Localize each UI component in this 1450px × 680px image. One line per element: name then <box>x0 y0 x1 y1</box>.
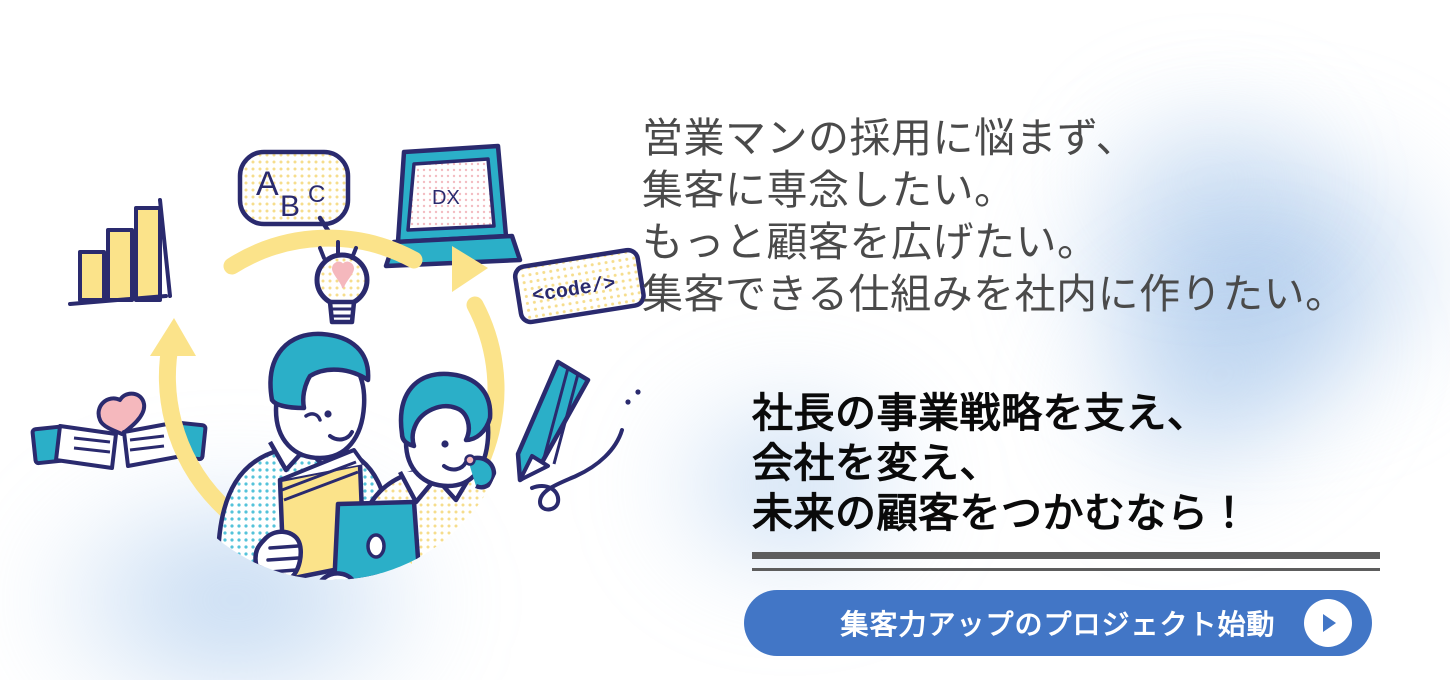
speech-bubble-letter-a: A <box>256 165 279 203</box>
people-group <box>218 334 524 615</box>
bar-chart-icon <box>70 200 170 304</box>
play-triangle-icon <box>1304 599 1352 647</box>
divider-rule-thick <box>752 552 1380 559</box>
speech-bubble-letter-c: C <box>308 181 325 208</box>
headline-line-2: 会社を変え、 <box>752 438 1250 488</box>
lead-paragraph: 営業マンの採用に悩まず、 集客に専念したい。 もっと顧客を広げたい。 集客できる… <box>642 112 1347 320</box>
code-tag-icon: <code/> <box>514 249 645 324</box>
lead-line-3: もっと顧客を広げたい。 <box>642 216 1347 268</box>
hero-illustration: A B C DX <code/> <box>20 90 660 650</box>
headline: 社長の事業戦略を支え、 会社を変え、 未来の顧客をつかむなら！ <box>752 388 1250 538</box>
lead-line-4: 集客できる仕組みを社内に作りたい。 <box>642 268 1347 320</box>
divider-rule-thin <box>752 568 1380 571</box>
headline-line-3: 未来の顧客をつかむなら！ <box>752 488 1250 538</box>
lead-line-2: 集客に専念したい。 <box>642 164 1347 216</box>
promo-banner: { "banner": { "lead_paragraph": [ "営業マンの… <box>0 0 1450 680</box>
cta-button[interactable]: 集客力アップのプロジェクト始動 <box>744 590 1372 656</box>
lead-line-1: 営業マンの採用に悩まず、 <box>642 112 1347 164</box>
speech-bubble-letter-b: B <box>280 190 300 223</box>
laptop-screen-label: DX <box>432 187 460 209</box>
text-content-column: 営業マンの採用に悩まず、 集客に専念したい。 もっと顧客を広げたい。 集客できる… <box>640 0 1450 680</box>
headline-line-1: 社長の事業戦略を支え、 <box>752 388 1250 438</box>
pencil-icon <box>518 362 641 510</box>
divider-rules <box>752 552 1380 571</box>
lightbulb-heart-icon <box>317 242 367 322</box>
cta-button-label: 集客力アップのプロジェクト始動 <box>840 603 1275 643</box>
divider-rule-gap <box>752 559 1380 568</box>
